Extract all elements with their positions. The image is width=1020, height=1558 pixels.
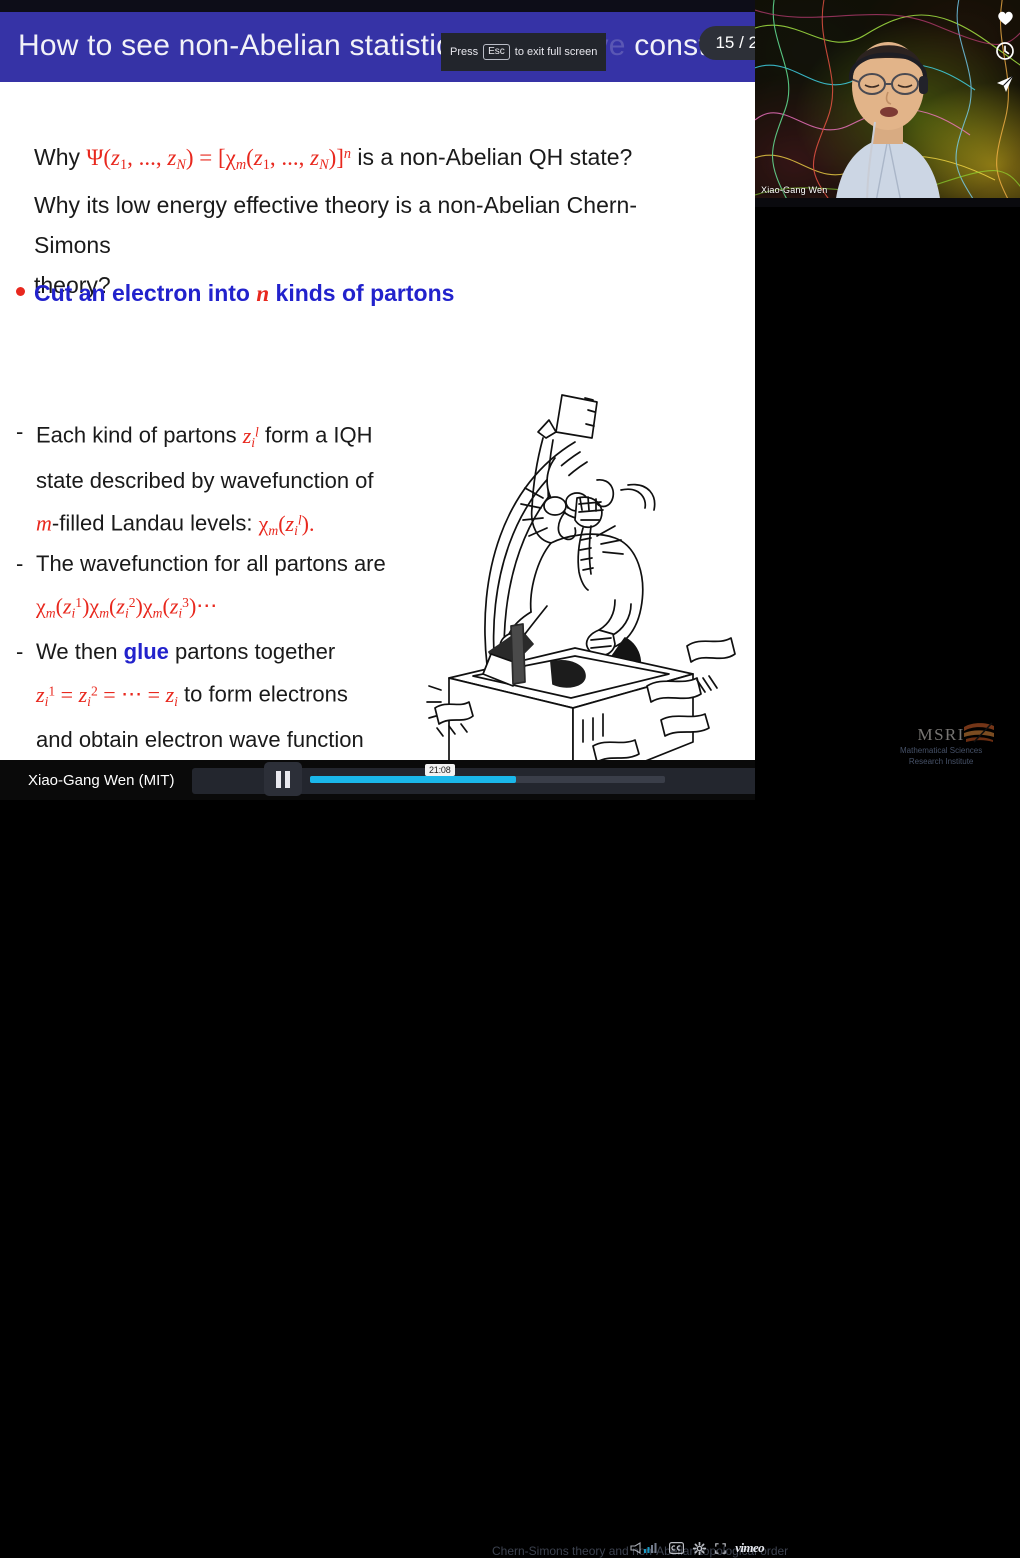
item1-text-c: -filled Landau levels: <box>52 511 259 536</box>
item1-text-a: Each kind of partons <box>36 423 243 448</box>
list-item-dash: - <box>16 632 23 671</box>
webcam-background-neural-art <box>755 0 1020 207</box>
intro-line-2: Why its low energy effective theory is a… <box>34 185 694 265</box>
symbol-m: m <box>36 511 52 536</box>
bullet-heading-part-b: kinds of partons <box>269 280 454 306</box>
formula-product-chi: χm(zi1)χm(zi2)χm(zi3)⋅⋅⋅ <box>16 583 436 632</box>
keyword-glue: glue <box>124 639 169 664</box>
pause-bar-right <box>285 771 290 788</box>
clock-icon[interactable] <box>995 41 1015 61</box>
pause-button[interactable] <box>264 762 302 796</box>
formula-psi-definition: Ψ(z1, ..., zN) = [χm(z1, ..., zN)]n <box>86 145 351 170</box>
webcam-video-panel[interactable]: Xiao-Gang Wen <box>755 0 1020 207</box>
esc-hint-rest: to exit full screen <box>515 46 598 58</box>
msri-mark-icon <box>962 721 996 743</box>
slide-top-strip <box>0 0 770 12</box>
esc-key-glyph: Esc <box>483 44 510 60</box>
list-item-line-1: Each kind of partons zil form a IQH <box>16 412 436 461</box>
exit-fullscreen-hint: Press Esc to exit full screen <box>441 33 606 71</box>
fullscreen-icon[interactable] <box>715 1543 726 1554</box>
pause-bar-left <box>276 771 281 788</box>
bullet-heading-part-a: Cut an electron into <box>34 280 256 306</box>
esc-hint-press: Press <box>450 46 478 58</box>
share-icon[interactable] <box>995 74 1015 94</box>
presentation-slide-region[interactable]: How to see non-Abelian statistics? Proje… <box>0 0 770 800</box>
msri-subtitle-line-2: Research Institute <box>900 756 982 767</box>
list-item-line-3: and obtain electron wave function <box>16 720 436 759</box>
page-title: How to see non-Abelian statistics? Proje… <box>0 29 798 63</box>
msri-subtitle-line-1: Mathematical Sciences <box>900 745 982 756</box>
formula-z-equalities: zi1 = zi2 = ⋅⋅⋅ = zi <box>36 682 178 707</box>
bullet-heading-cut-electron: Cut an electron into n kinds of partons <box>16 280 454 307</box>
title-main-text: How to see non-Abelian statistics? <box>18 29 483 62</box>
intro-line-1: Why Ψ(z1, ..., zN) = [χm(z1, ..., zN)]n … <box>34 134 694 185</box>
item1-text-b: form a IQH <box>259 423 373 448</box>
video-progress-scrubber[interactable] <box>310 776 665 783</box>
heart-icon[interactable] <box>995 8 1015 28</box>
volume-icon[interactable] <box>630 1542 660 1554</box>
bullet-dot-icon <box>16 287 25 296</box>
video-time-tooltip: 21:08 <box>425 764 455 776</box>
webcam-bottom-strip <box>755 198 1020 207</box>
msri-watermark: MSRI Mathematical Sciences Research Inst… <box>900 725 982 767</box>
item3-text-c: to form electrons <box>178 682 348 707</box>
slide-title-bar: How to see non-Abelian statistics? Proje… <box>0 12 770 80</box>
vimeo-logo[interactable]: vimeo <box>735 1540 764 1556</box>
list-item-line-1: The wavefunction for all partons are <box>16 544 436 583</box>
list-item-line-2: zi1 = zi2 = ⋅⋅⋅ = zi to form electrons <box>16 671 436 720</box>
right-empty-area: MSRI Mathematical Sciences Research Inst… <box>755 207 1020 800</box>
list-item-line-1: We then glue partons together <box>16 632 436 671</box>
bullet-heading-text: Cut an electron into n kinds of partons <box>34 280 454 307</box>
presenter-name-footer: Xiao-Gang Wen (MIT) <box>0 772 174 789</box>
cc-icon[interactable] <box>669 1542 684 1554</box>
item3-text-a: We then <box>36 639 124 664</box>
symbol-z-i-l: zil <box>243 423 259 448</box>
intro-line1-suffix: is a non-Abelian QH state? <box>351 144 632 170</box>
player-right-controls[interactable]: vimeo <box>630 1540 764 1556</box>
intro-line1-prefix: Why <box>34 144 86 170</box>
list-item-dash: - <box>16 412 23 451</box>
item3-text-b: partons together <box>169 639 335 664</box>
list-item-dash: - <box>16 544 23 583</box>
bullet-heading-n: n <box>256 281 269 306</box>
list-item: - The wavefunction for all partons are χ… <box>16 544 436 632</box>
webcam-name-label: Xiao-Gang Wen <box>761 185 827 195</box>
symbol-chi-m-zil: χm(zil). <box>259 511 315 536</box>
webcam-side-icons[interactable] <box>995 8 1015 94</box>
list-item-line-2: state described by wavefunction of <box>16 461 436 500</box>
slide-body: Why Ψ(z1, ..., zN) = [χm(z1, ..., zN)]n … <box>0 80 770 760</box>
gear-icon[interactable] <box>693 1542 706 1555</box>
list-item-line-3: m-filled Landau levels: χm(zil). <box>16 500 436 549</box>
video-progress-fill <box>310 776 516 783</box>
cartoon-illustration-chopping <box>425 390 755 790</box>
list-item: - Each kind of partons zil form a IQH st… <box>16 412 436 550</box>
